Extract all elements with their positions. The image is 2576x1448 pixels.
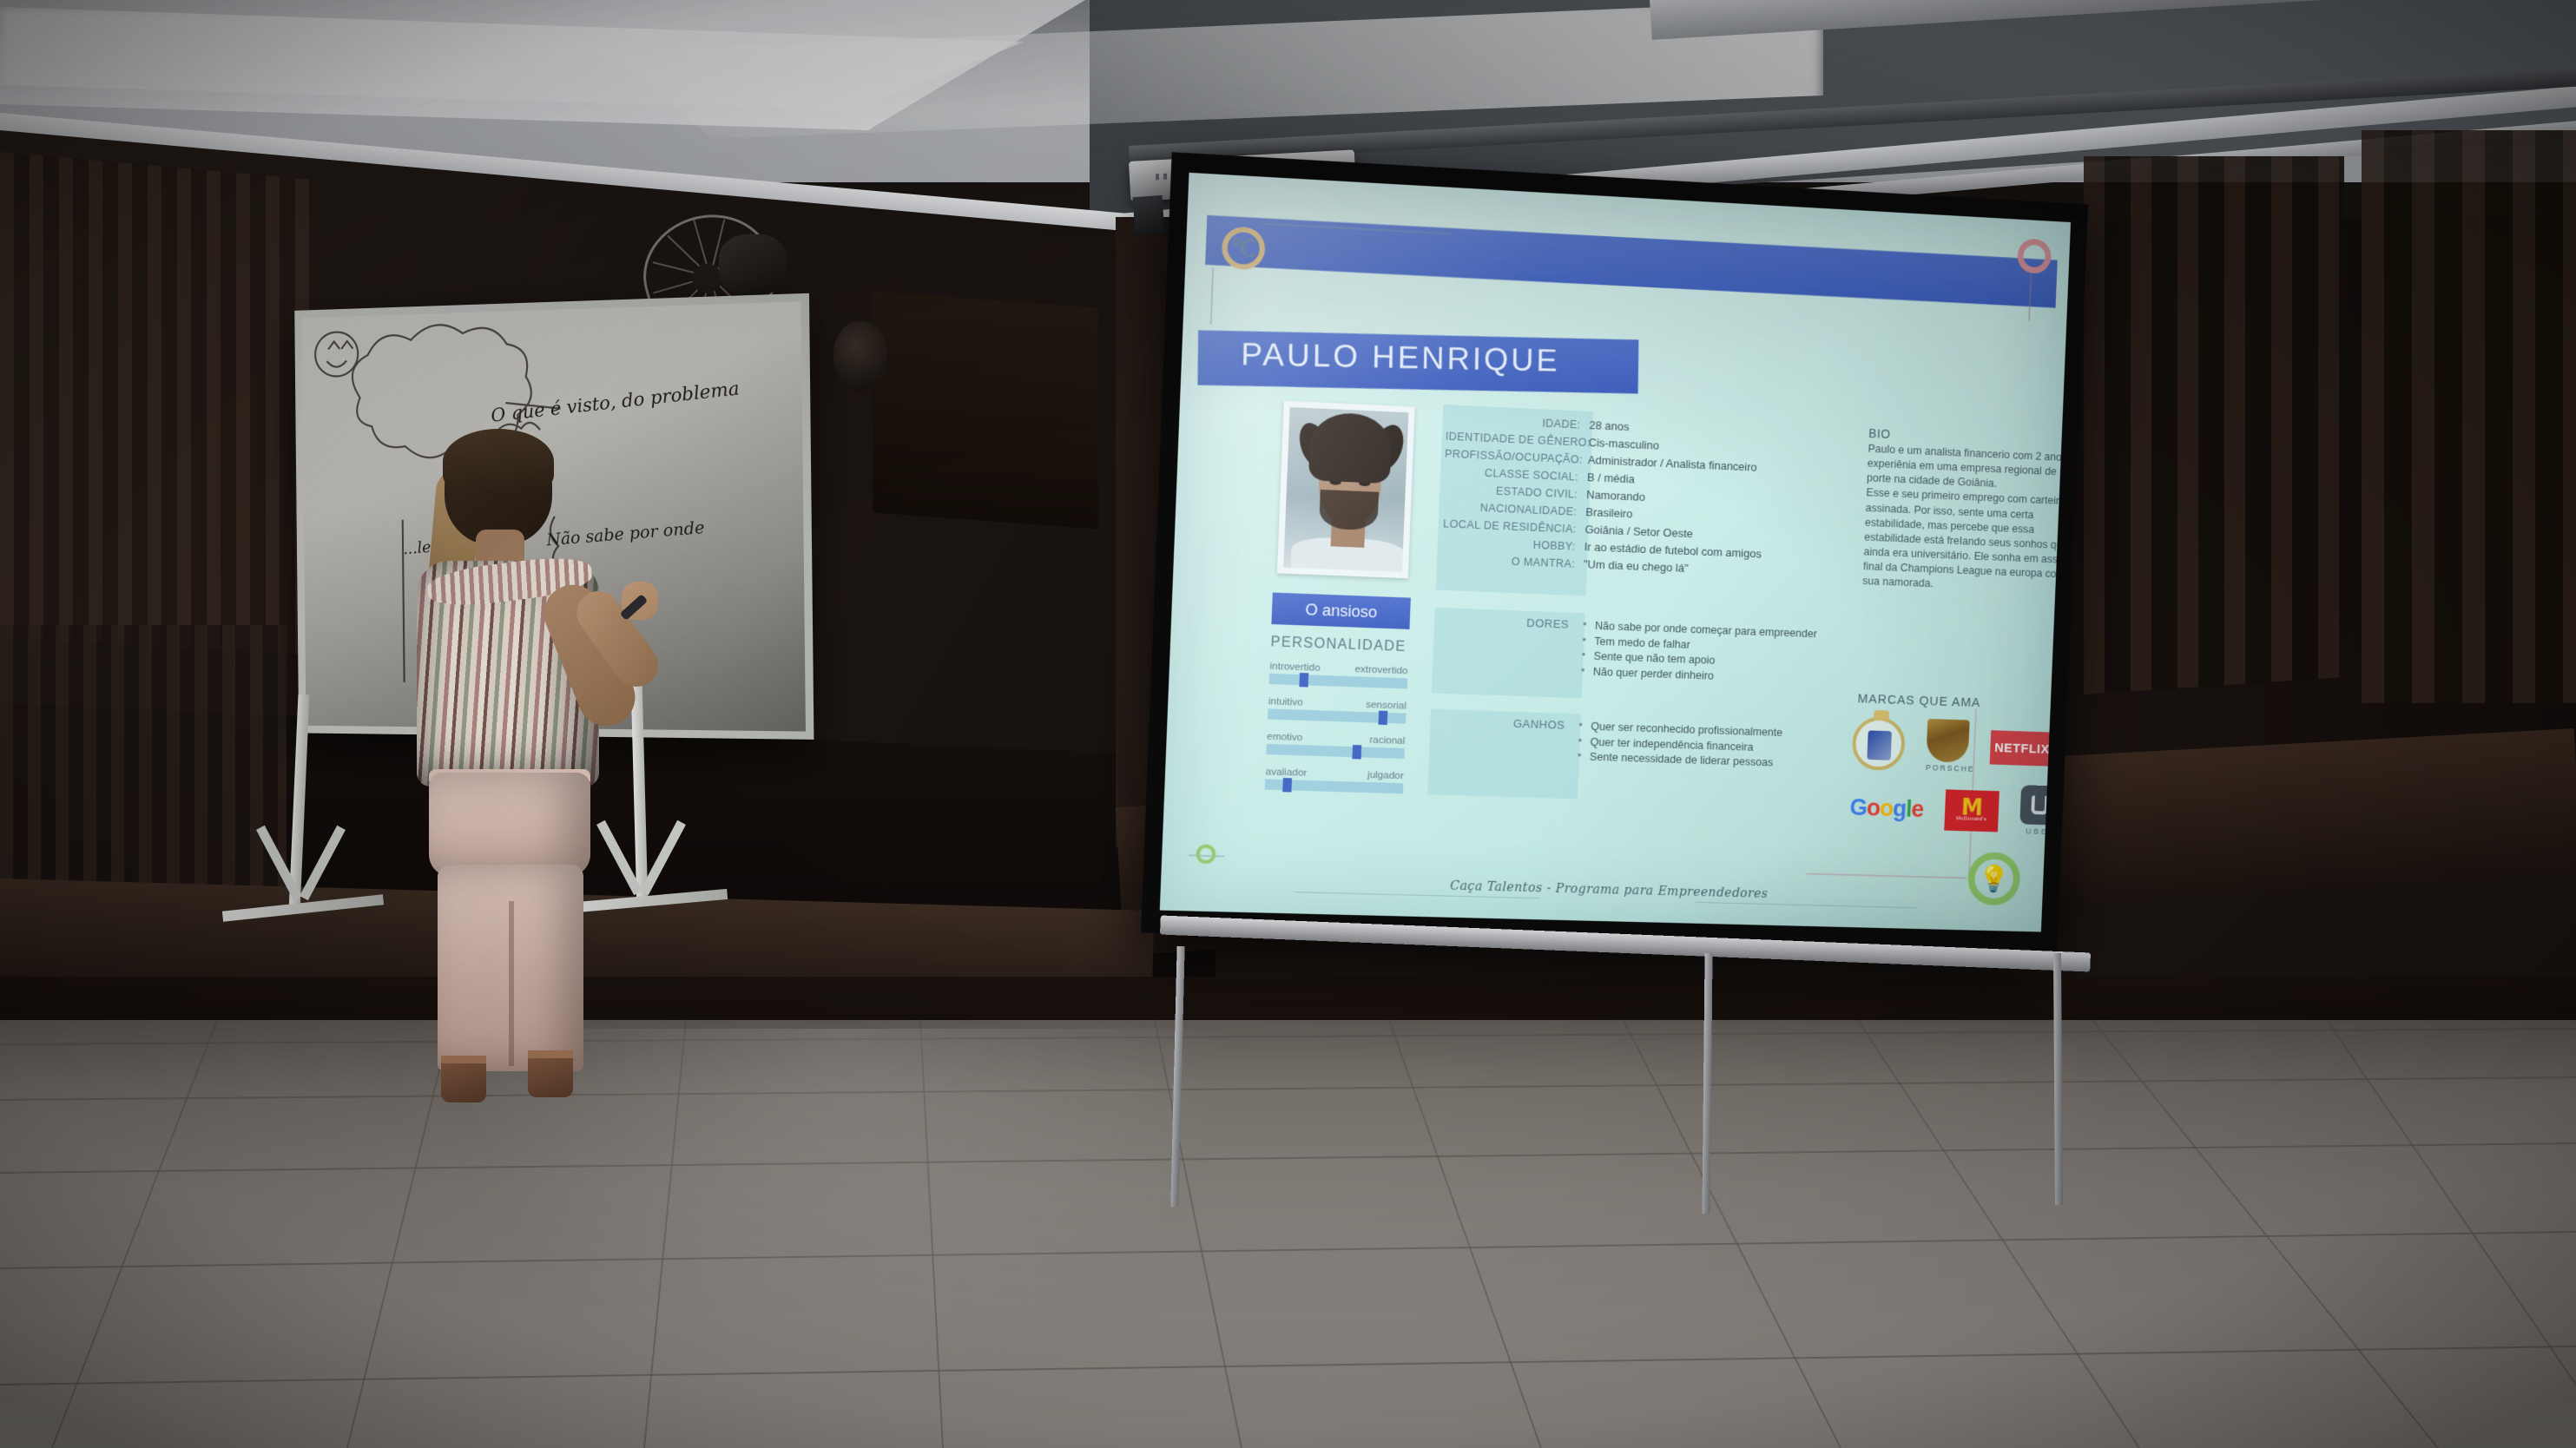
slider-4-left-label: avaliador	[1265, 767, 1307, 779]
personality-slider-2[interactable]: intuitivo sensorial	[1268, 696, 1407, 724]
brands-heading: MARCAS QUE AMA	[1857, 692, 1980, 710]
persona-slide: PAULO HENRIQUE ℃ 💡	[1160, 173, 2071, 932]
porsche-logo: PORSCHE	[1926, 719, 1970, 773]
google-logo: Google	[1849, 793, 1924, 822]
attr-value: Goiânia / Setor Oeste	[1584, 523, 1693, 540]
slider-1-left-label: introvertido	[1269, 661, 1321, 674]
dores-label: DORES	[1436, 613, 1582, 680]
persona-photo	[1277, 400, 1415, 578]
wood-slats-right-far	[2362, 130, 2576, 703]
trousers-hip	[429, 773, 590, 877]
page-title: PAULO HENRIQUE	[1241, 335, 1560, 378]
attr-value: 28 anos	[1589, 418, 1630, 433]
presenter	[408, 432, 669, 1075]
hair	[443, 429, 554, 495]
ganhos-list: Quer ser reconhecido profissionalmente Q…	[1576, 719, 1882, 774]
slider-2-left-label: intuitivo	[1268, 696, 1303, 708]
attr-value: B / média	[1587, 471, 1635, 485]
wood-slats-left-lower	[0, 625, 287, 920]
attr-key: ESTADO CIVIL:	[1443, 483, 1586, 501]
brands-grid: PORSCHE NETFLIX Google M McDonald's	[1848, 716, 2071, 852]
bio-heading: BIO	[1868, 426, 1891, 441]
screen-bracket	[1133, 195, 1165, 235]
attr-key: HOBBY:	[1441, 535, 1584, 553]
speaker-icon	[833, 321, 887, 391]
wall-panel-block	[873, 291, 1098, 529]
brand-mark-glyph: ℃	[1229, 234, 1257, 262]
persona-attributes: IDADE:28 anos IDENTIDADE DE GÊNERO:Cis-m…	[1440, 411, 1809, 583]
slider-1-right-label: extrovertido	[1354, 664, 1408, 676]
dores-list: Não sabe por onde começar para empreende…	[1579, 618, 1887, 690]
personality-slider-3[interactable]: emotivo racional	[1266, 732, 1405, 759]
personality-slider-4[interactable]: avaliador julgador	[1265, 767, 1404, 793]
attr-value: Ir ao estádio de futebol com amigos	[1584, 540, 1762, 560]
trouser-seam	[509, 901, 514, 1066]
attr-value: Brasileiro	[1585, 505, 1633, 520]
slider-3-knob[interactable]	[1352, 745, 1361, 759]
wood-slats-right	[2084, 156, 2344, 712]
attr-value: Administrador / Analista financeiro	[1588, 453, 1757, 474]
slider-3-left-label: emotivo	[1267, 732, 1303, 743]
slider-2-knob[interactable]	[1378, 711, 1387, 725]
slider-1-knob[interactable]	[1300, 673, 1309, 688]
slider-4-knob[interactable]	[1282, 778, 1292, 793]
ganhos-label: GANHOS	[1433, 714, 1578, 765]
personality-slider-1[interactable]: introvertido extrovertido	[1269, 661, 1408, 689]
floor-tile-grid	[0, 1020, 2576, 1448]
slider-2-right-label: sensorial	[1366, 700, 1407, 712]
shoe-right	[528, 1050, 573, 1097]
personality-heading: PERSONALIDADE	[1270, 635, 1407, 655]
attr-key: NACIONALIDADE:	[1442, 500, 1585, 518]
slide-title-banner: PAULO HENRIQUE	[1197, 330, 1638, 393]
deco-thread-left	[1210, 268, 1215, 325]
attr-value: Namorando	[1586, 488, 1645, 504]
deco-circle-green-small-icon	[1196, 844, 1216, 864]
floor	[0, 1020, 2576, 1448]
shoe-left	[441, 1056, 486, 1102]
projection-screen[interactable]: PAULO HENRIQUE ℃ 💡	[1141, 152, 2088, 954]
classroom-scene: O que é visto, do problema Não sabe por …	[0, 0, 2576, 1448]
deco-thread-bottom-right	[1806, 872, 1967, 879]
uber-logo: UBER	[2019, 785, 2065, 840]
mcdonalds-logo: M McDonald's	[1944, 789, 2000, 832]
attr-key: O MANTRA:	[1440, 552, 1584, 570]
slide-top-banner	[1205, 215, 2058, 308]
porsche-label: PORSCHE	[1926, 763, 1968, 773]
slider-4-right-label: julgador	[1367, 770, 1404, 781]
mcdonalds-label: McDonald's	[1956, 817, 1986, 823]
attr-key: IDENTIDADE DE GÊNERO:	[1446, 430, 1589, 449]
real-madrid-logo	[1851, 716, 1906, 771]
attr-key: PROFISSÃO/OCUPAÇÃO:	[1445, 448, 1588, 466]
slider-3-right-label: racional	[1369, 735, 1405, 747]
attr-value: "Um dia eu chego lá"	[1584, 557, 1689, 575]
attr-key: LOCAL DE RESIDÊNCIA:	[1442, 517, 1585, 536]
attr-value: Cis-masculino	[1588, 436, 1659, 452]
bio-text: Paulo e um analista financerio com 2 ano…	[1862, 442, 2071, 598]
uber-label: UBER	[2019, 826, 2063, 836]
attr-key: CLASSE SOCIAL:	[1444, 465, 1587, 484]
netflix-label: NETFLIX	[1994, 740, 2050, 757]
lightbulb-glyph: 💡	[1978, 864, 2010, 894]
netflix-logo: NETFLIX	[1990, 730, 2055, 767]
bio-paragraph: Esse e seu primeiro emprego com carteira…	[1862, 486, 2071, 598]
persona-type-badge: O ansioso	[1271, 593, 1411, 629]
